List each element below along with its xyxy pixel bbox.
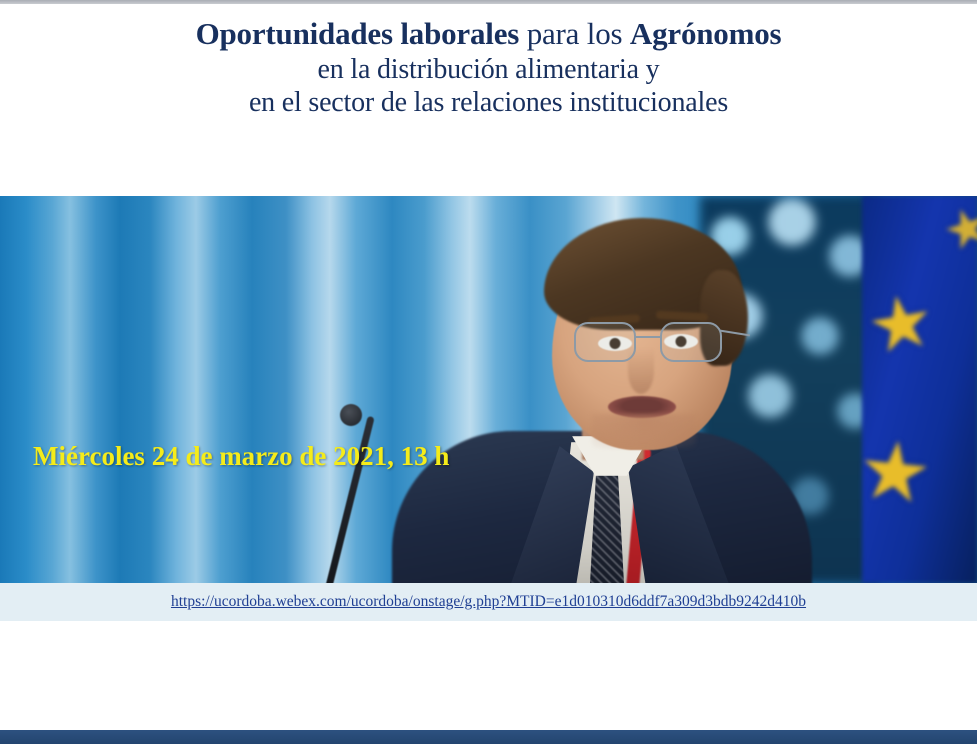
- sponsor-logos-band: ΛΛ ETSIAM Escuela Técnica Superior de In…: [0, 621, 977, 730]
- event-date: Miércoles 24 de marzo de 2021, 13 h: [33, 439, 533, 475]
- lens-right: [660, 322, 722, 362]
- webex-link-band: https://ucordoba.webex.com/ucordoba/onst…: [0, 583, 977, 621]
- star-icon: ★: [854, 428, 936, 517]
- glasses-bridge: [636, 336, 660, 338]
- speaker-photo: ★ ★ ★: [0, 196, 977, 583]
- star-icon: ★: [862, 283, 940, 367]
- chin: [592, 414, 696, 448]
- page-title-line-1: Oportunidades laborales para los Agrónom…: [196, 16, 782, 53]
- microphone-head-icon: [340, 404, 362, 426]
- page-title-line-2: en la distribución alimentaria y: [318, 53, 660, 86]
- speaker-figure: [432, 196, 762, 583]
- lens-left: [574, 322, 636, 362]
- eyeglasses-icon: [574, 322, 738, 366]
- page-title-line-3: en el sector de las relaciones instituci…: [249, 86, 728, 119]
- star-icon: ★: [937, 198, 977, 262]
- bottom-navy-bar: [0, 730, 977, 744]
- title-regular-text: para los: [519, 16, 630, 51]
- title-block: Oportunidades laborales para los Agrónom…: [0, 4, 977, 196]
- title-bold-agronomos: Agrónomos: [630, 16, 781, 51]
- webex-link[interactable]: https://ucordoba.webex.com/ucordoba/onst…: [171, 593, 806, 611]
- title-bold-opportunities: Oportunidades laborales: [196, 16, 520, 51]
- event-poster: Oportunidades laborales para los Agrónom…: [0, 0, 977, 744]
